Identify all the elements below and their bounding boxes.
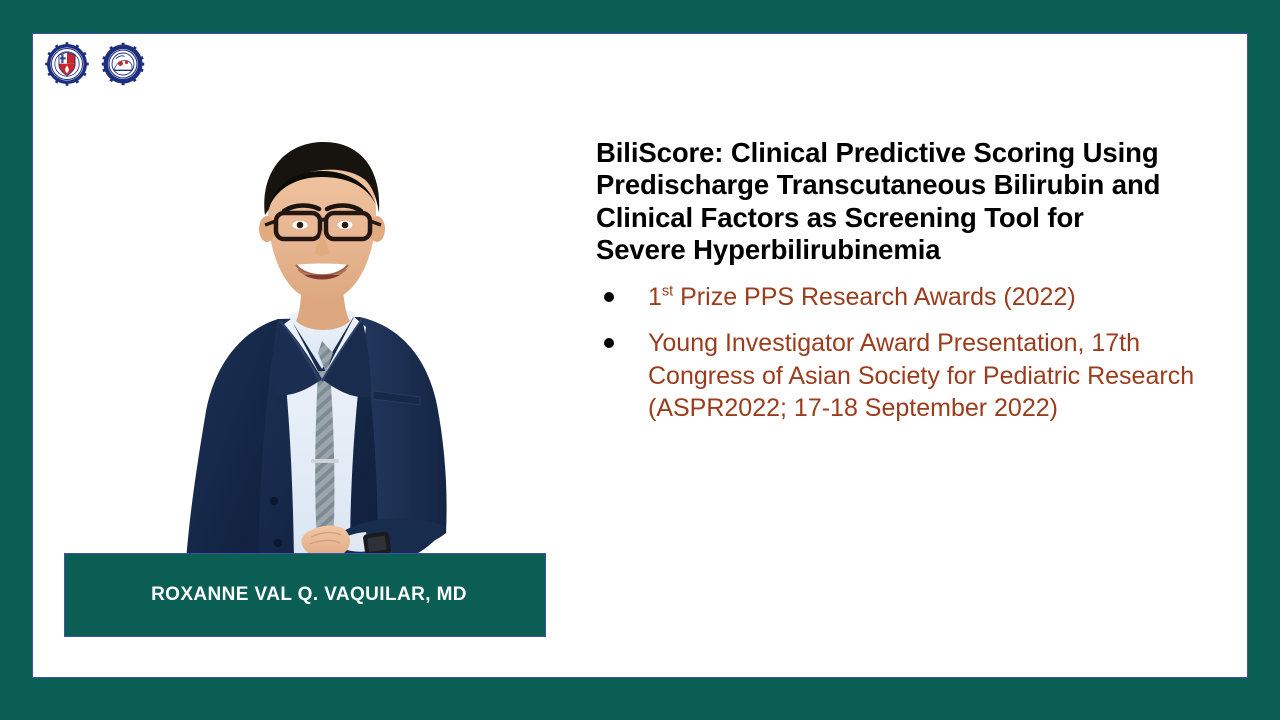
slide-content-card: ROXANNE VAL Q. VAQUILAR, MD BiliScore: C… (32, 33, 1248, 678)
bullet-dot-icon (604, 338, 614, 348)
award-ordinal-number: 1 (648, 283, 662, 311)
research-title: BiliScore: Clinical Predictive Scoring U… (596, 137, 1166, 267)
list-item: Young Investigator Award Presentation, 1… (596, 327, 1196, 425)
pps-crest-logo (45, 42, 89, 86)
award-text-1: 1st Prize PPS Research Awards (2022) (648, 281, 1196, 314)
speaker-portrait (128, 129, 548, 594)
award-list: 1st Prize PPS Research Awards (2022) You… (596, 281, 1196, 425)
research-info-column: BiliScore: Clinical Predictive Scoring U… (596, 137, 1196, 439)
award-description: Prize PPS Research Awards (2022) (673, 283, 1076, 311)
list-item: 1st Prize PPS Research Awards (2022) (596, 281, 1196, 314)
award-description: Young Investigator Award Presentation, 1… (648, 329, 1194, 422)
pediatric-society-seal-logo (101, 42, 145, 86)
slide-root: ROXANNE VAL Q. VAQUILAR, MD BiliScore: C… (0, 0, 1280, 720)
speaker-name-text: ROXANNE VAL Q. VAQUILAR, MD (143, 584, 467, 606)
speaker-name-banner: ROXANNE VAL Q. VAQUILAR, MD (64, 553, 546, 637)
award-text-2: Young Investigator Award Presentation, 1… (648, 327, 1196, 425)
award-ordinal-suffix: st (662, 283, 673, 299)
bullet-dot-icon (604, 292, 614, 302)
logo-strip (45, 42, 145, 86)
